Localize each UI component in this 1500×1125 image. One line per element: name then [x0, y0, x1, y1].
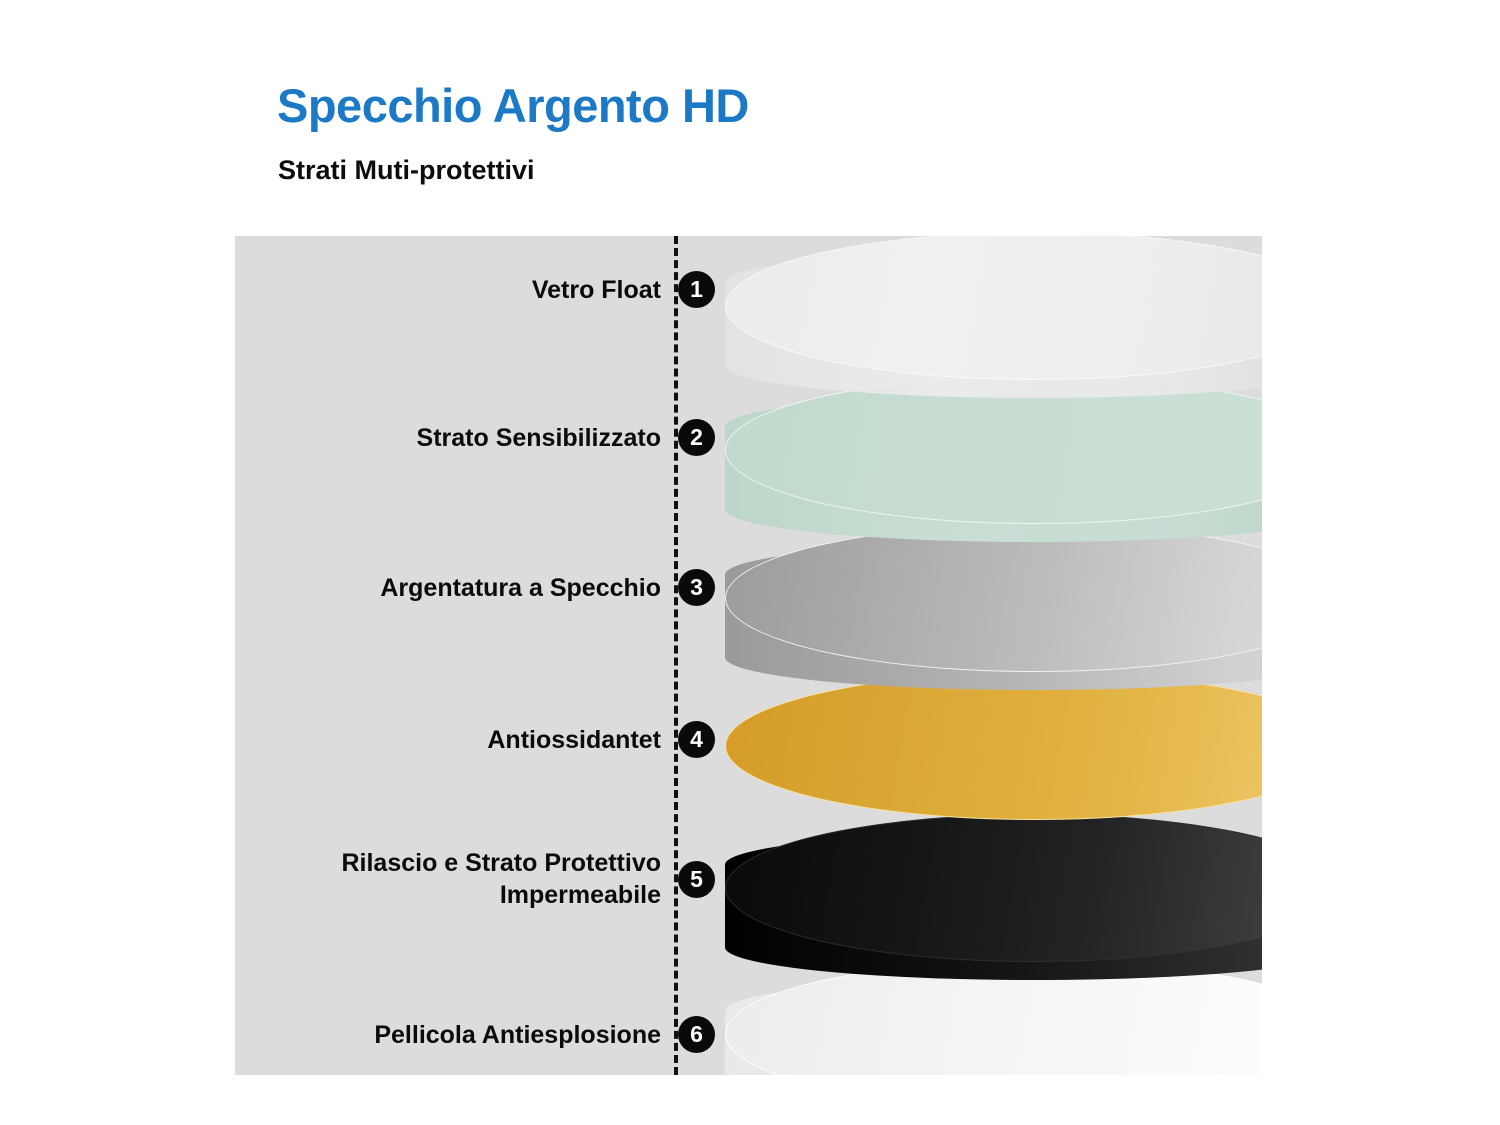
- callout-1-label: Vetro Float: [532, 274, 661, 306]
- layer-stack: [235, 236, 1262, 1075]
- callout-6-number-badge: 6: [678, 1016, 715, 1053]
- callout-3-number-badge: 3: [678, 569, 715, 606]
- callout-4[interactable]: Antiossidantet 4: [235, 721, 715, 758]
- callout-5-number-badge: 5: [678, 861, 715, 898]
- callout-2-label: Strato Sensibilizzato: [417, 422, 661, 454]
- page-subtitle: Strati Muti-protettivi: [278, 155, 535, 186]
- callout-2-number-badge: 2: [678, 419, 715, 456]
- callout-5[interactable]: Rilascio e Strato Protettivo Impermeabil…: [235, 847, 715, 911]
- page-title: Specchio Argento HD: [277, 78, 749, 133]
- callout-1[interactable]: Vetro Float 1: [235, 271, 715, 308]
- layer-diagram-panel: Vetro Float 1 Strato Sensibilizzato 2 Ar…: [235, 236, 1262, 1075]
- callout-4-label: Antiossidantet: [487, 724, 661, 756]
- callout-3-label: Argentatura a Specchio: [380, 572, 661, 604]
- callout-1-number-badge: 1: [678, 271, 715, 308]
- callout-4-number-badge: 4: [678, 721, 715, 758]
- callout-3[interactable]: Argentatura a Specchio 3: [235, 569, 715, 606]
- callout-5-label: Rilascio e Strato Protettivo Impermeabil…: [341, 847, 661, 911]
- callout-6-label: Pellicola Antiesplosione: [374, 1019, 661, 1051]
- callout-2[interactable]: Strato Sensibilizzato 2: [235, 419, 715, 456]
- dashed-guide-line: [674, 236, 678, 1075]
- infographic-root: Specchio Argento HD Strati Muti-protetti…: [0, 0, 1500, 1125]
- callout-6[interactable]: Pellicola Antiesplosione 6: [235, 1016, 715, 1053]
